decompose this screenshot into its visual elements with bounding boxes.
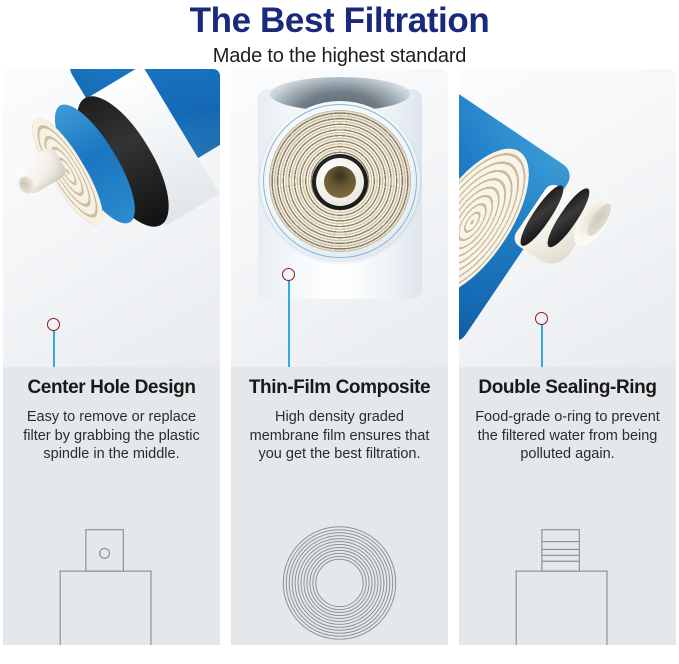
product-photo-thin-film-composite <box>231 69 448 367</box>
feature-heading: Double Sealing-Ring <box>467 376 668 400</box>
feature-description: High density graded membrane film ensure… <box>239 408 440 464</box>
feature-text-thin-film-composite: Thin-Film Composite High density graded … <box>231 367 448 464</box>
feature-heading: Center Hole Design <box>11 376 212 400</box>
callout-circle-icon <box>535 312 548 325</box>
feature-description: Easy to remove or replace filter by grab… <box>11 408 212 464</box>
spindle-double-oring-icon <box>459 515 676 645</box>
feature-panel-thin-film-composite[interactable]: Thin-Film Composite High density graded … <box>231 69 448 645</box>
spiral-membrane-icon <box>231 515 448 645</box>
feature-heading: Thin-Film Composite <box>239 376 440 400</box>
feature-text-center-hole-design: Center Hole Design Easy to remove or rep… <box>3 367 220 464</box>
page-title: The Best Filtration <box>0 2 679 40</box>
product-photo-center-hole-design <box>3 69 220 367</box>
feature-panel-center-hole-design[interactable]: Center Hole Design Easy to remove or rep… <box>3 69 220 645</box>
product-photo-double-sealing-ring <box>459 69 676 367</box>
lineart-center-hole-design <box>3 464 220 646</box>
page-header: The Best Filtration Made to the highest … <box>0 0 679 69</box>
feature-text-double-sealing-ring: Double Sealing-Ring Food-grade o-ring to… <box>459 367 676 464</box>
lineart-double-sealing-ring <box>459 464 676 646</box>
feature-panels: Center Hole Design Easy to remove or rep… <box>0 69 679 645</box>
callout-circle-icon <box>47 318 60 331</box>
callout-leader-line <box>288 280 290 367</box>
center-hole <box>324 166 356 198</box>
spindle-center-hole-icon <box>3 515 220 645</box>
feature-description: Food-grade o-ring to prevent the filtere… <box>467 408 668 464</box>
callout-leader-line <box>53 331 55 367</box>
callout-circle-icon <box>282 268 295 281</box>
callout-leader-line <box>541 324 543 367</box>
feature-panel-double-sealing-ring[interactable]: Double Sealing-Ring Food-grade o-ring to… <box>459 69 676 645</box>
page-subtitle: Made to the highest standard <box>0 43 679 69</box>
lineart-thin-film-composite <box>231 464 448 646</box>
